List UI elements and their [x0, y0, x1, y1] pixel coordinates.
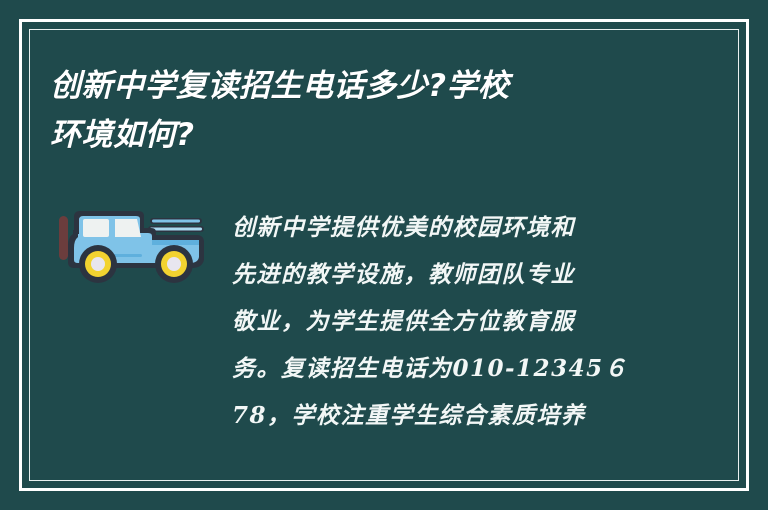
poster-card: 创新中学复读招生电话多少?学校 环境如何? — [0, 0, 768, 510]
rear-wheel — [79, 245, 117, 283]
body-line-1: 创新中学提供优美的校园环境和 — [232, 204, 652, 251]
spare-part-shape — [59, 216, 68, 260]
jeep-icon — [52, 192, 212, 302]
title-line-1: 创新中学复读招生电话多少?学校 — [50, 62, 690, 111]
body-line-2: 先进的教学设施，教师团队专业 — [232, 251, 652, 298]
front-window — [115, 219, 141, 237]
body-line-5: 78，学校注重学生综合素质培养 — [232, 392, 652, 439]
front-wheel — [155, 245, 193, 283]
vehicle-illustration — [52, 192, 212, 302]
hood-shade — [152, 240, 199, 245]
body-paragraph: 创新中学提供优美的校园环境和 先进的教学设施，教师团队专业 敬业，为学生提供全方… — [232, 204, 652, 439]
page-title: 创新中学复读招生电话多少?学校 环境如何? — [50, 62, 690, 160]
cargo-rail-group — [148, 218, 204, 232]
title-line-2: 环境如何? — [50, 111, 690, 160]
rear-window — [83, 219, 109, 237]
body-line-3: 敬业，为学生提供全方位教育服 — [232, 298, 652, 345]
body-line-4: 务。复读招生电话为010-12345６ — [232, 345, 652, 392]
